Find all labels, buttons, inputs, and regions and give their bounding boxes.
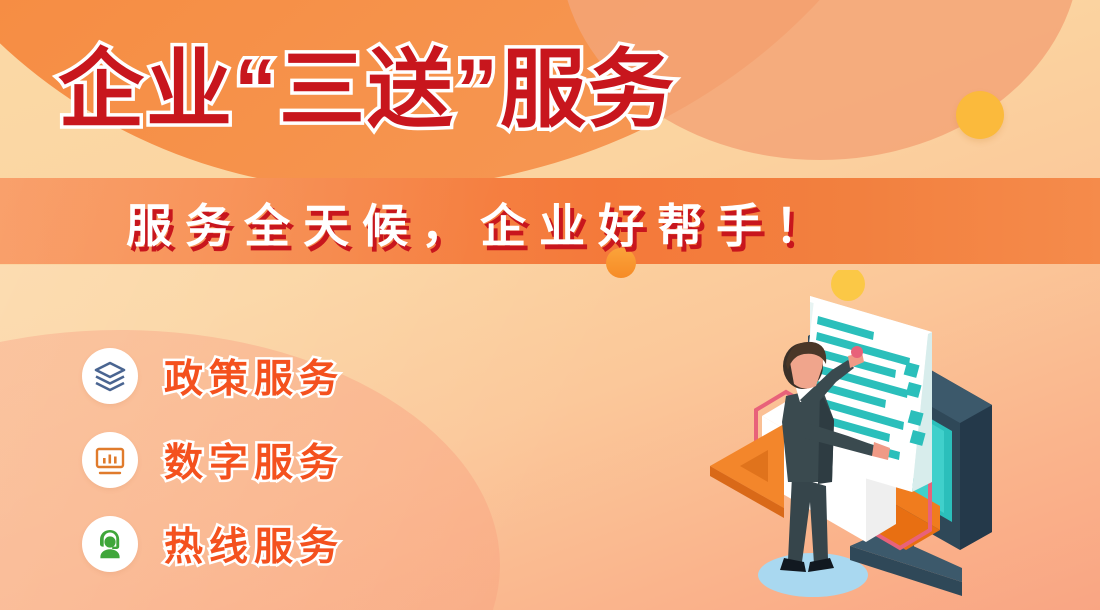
feature-item-policy-service[interactable]: 政策服务 (82, 336, 344, 416)
page-subtitle: 服务全天候，企业好帮手！ (126, 190, 834, 256)
feature-item-hotline-service[interactable]: 热线服务 (82, 504, 344, 584)
feature-label: 数字服务 (164, 432, 344, 488)
headset-agent-icon (82, 516, 138, 572)
feature-label: 政策服务 (164, 348, 344, 404)
feature-item-digital-service[interactable]: 数字服务 (82, 420, 344, 500)
monitor-chart-icon (82, 432, 138, 488)
illustration-businessman-document (700, 270, 1100, 610)
promo-banner: 企业“三送”服务 企业“三送”服务 服务全天候，企业好帮手！ 政策服务 (0, 0, 1100, 610)
layers-icon (82, 348, 138, 404)
feature-list: 政策服务 数字服务 (82, 336, 344, 588)
yellow-circle-above-document-icon (831, 270, 865, 301)
yellow-circle-top-right-icon (956, 91, 1004, 139)
page-title: 企业“三送”服务 (58, 44, 676, 137)
feature-label: 热线服务 (164, 516, 344, 572)
